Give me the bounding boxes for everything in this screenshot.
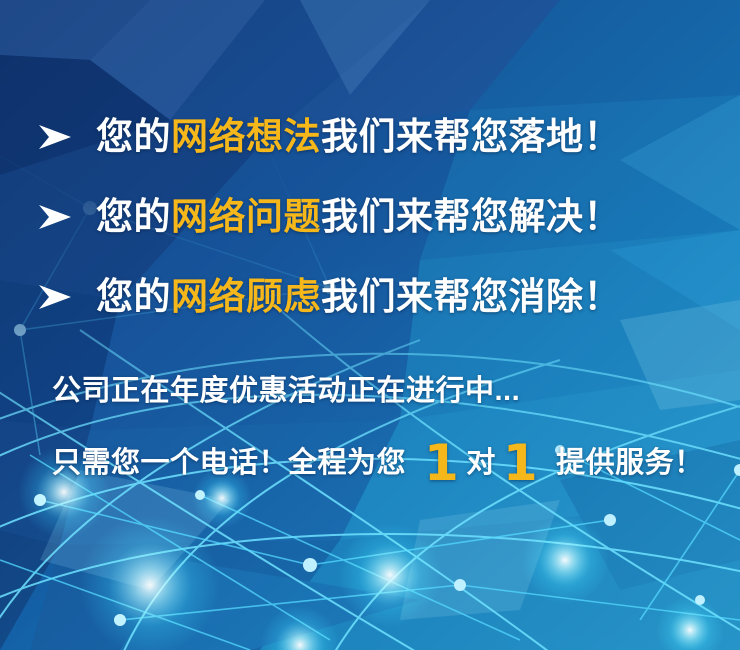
promo-subline: 公司正在年度优惠活动正在进行中... (0, 352, 740, 424)
service-text-part2: 提供服务！ (556, 439, 704, 481)
headline-suffix: 我们来帮您解决！ (321, 196, 621, 237)
headline-text: 您的网络问题我们来帮您解决！ (96, 198, 621, 235)
arrow-right-icon (38, 124, 72, 150)
headline-suffix: 我们来帮您落地！ (321, 116, 621, 157)
headline-item: 您的网络想法我们来帮您落地！ (0, 96, 740, 176)
headline-accent: 网络问题 (171, 196, 321, 237)
headline-text: 您的网络想法我们来帮您落地！ (96, 118, 621, 155)
headline-prefix: 您的 (96, 276, 171, 317)
headline-prefix: 您的 (96, 116, 171, 157)
headline-item: 您的网络问题我们来帮您解决！ (0, 176, 740, 256)
arrow-right-icon (38, 284, 72, 310)
subline-list: 公司正在年度优惠活动正在进行中... 只需您一个电话！全程为您1对1提供服务！ (0, 352, 740, 496)
promo-banner: 您的网络想法我们来帮您落地！ 您的网络问题我们来帮您解决！ 您的网络顾虑我们来帮… (0, 0, 740, 650)
service-number-first: 1 (417, 443, 466, 483)
service-text-part1: 只需您一个电话！全程为您 (52, 439, 406, 481)
service-text-middle: 对 (466, 439, 496, 481)
headline-suffix: 我们来帮您消除！ (321, 276, 621, 317)
service-subline: 只需您一个电话！全程为您1对1提供服务！ (0, 424, 740, 496)
headline-list: 您的网络想法我们来帮您落地！ 您的网络问题我们来帮您解决！ 您的网络顾虑我们来帮… (0, 96, 740, 336)
headline-accent: 网络想法 (171, 116, 321, 157)
promo-text: 公司正在年度优惠活动正在进行中... (52, 367, 520, 409)
headline-text: 您的网络顾虑我们来帮您消除！ (96, 278, 621, 315)
headline-item: 您的网络顾虑我们来帮您消除！ (0, 256, 740, 336)
headline-prefix: 您的 (96, 196, 171, 237)
banner-content: 您的网络想法我们来帮您落地！ 您的网络问题我们来帮您解决！ 您的网络顾虑我们来帮… (0, 0, 740, 650)
headline-accent: 网络顾虑 (171, 276, 321, 317)
service-number-second: 1 (496, 443, 545, 483)
arrow-right-icon (38, 204, 72, 230)
